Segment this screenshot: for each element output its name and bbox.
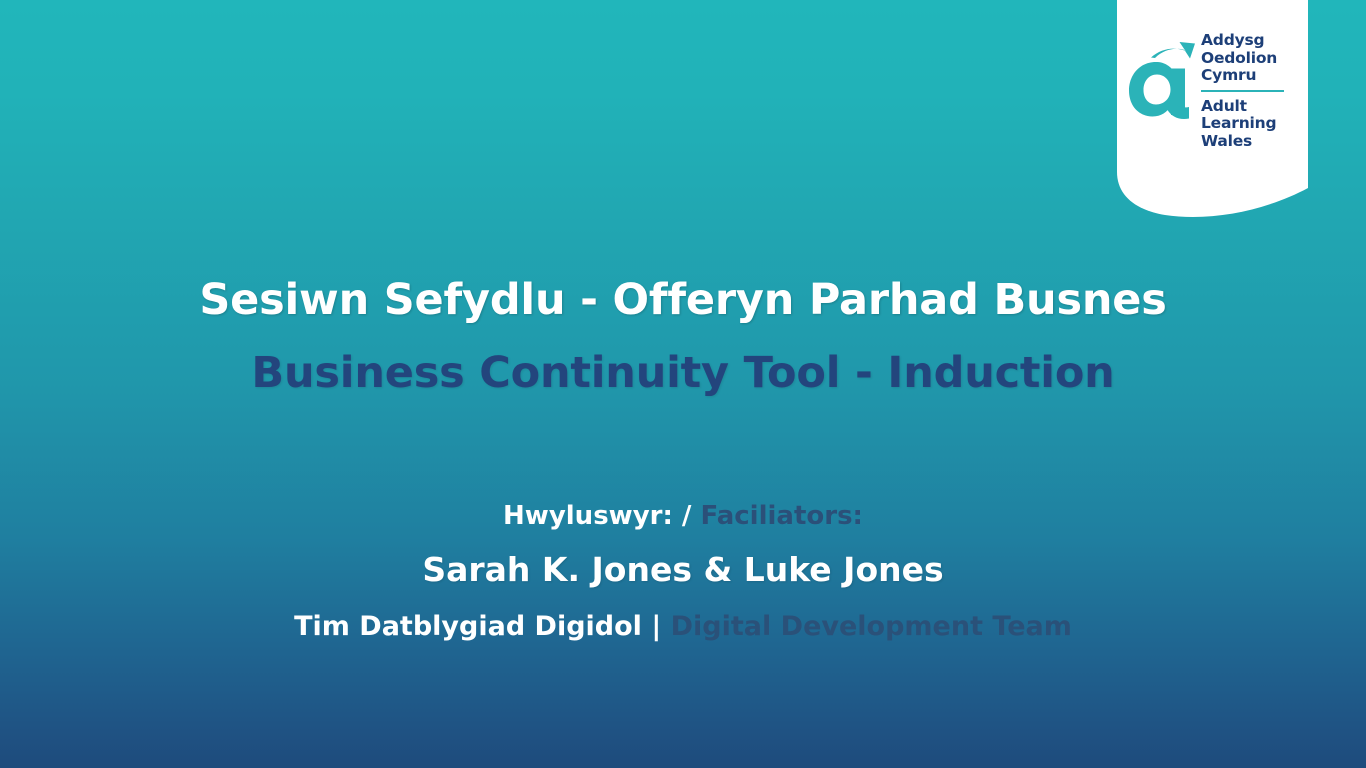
- slide-title-welsh: Sesiwn Sefydlu - Offeryn Parhad Busnes: [0, 275, 1366, 325]
- facilitators-label-welsh: Hwyluswyr: /: [503, 501, 691, 531]
- slide-content: Sesiwn Sefydlu - Offeryn Parhad Busnes B…: [0, 0, 1366, 768]
- facilitators-label: Hwyluswyr: / Faciliators:: [0, 501, 1366, 531]
- team-line: Tim Datblygiad Digidol | Digital Develop…: [0, 611, 1366, 642]
- team-separator: |: [651, 611, 661, 642]
- slide-title-english: Business Continuity Tool - Induction: [0, 348, 1366, 398]
- presentation-slide: Addysg Oedolion Cymru Adult Learning Wal…: [0, 0, 1366, 768]
- facilitator-names: Sarah K. Jones & Luke Jones: [0, 550, 1366, 589]
- team-name-welsh: Tim Datblygiad Digidol: [294, 611, 642, 642]
- team-name-english: Digital Development Team: [671, 611, 1072, 642]
- facilitators-label-english: Faciliators:: [700, 501, 862, 531]
